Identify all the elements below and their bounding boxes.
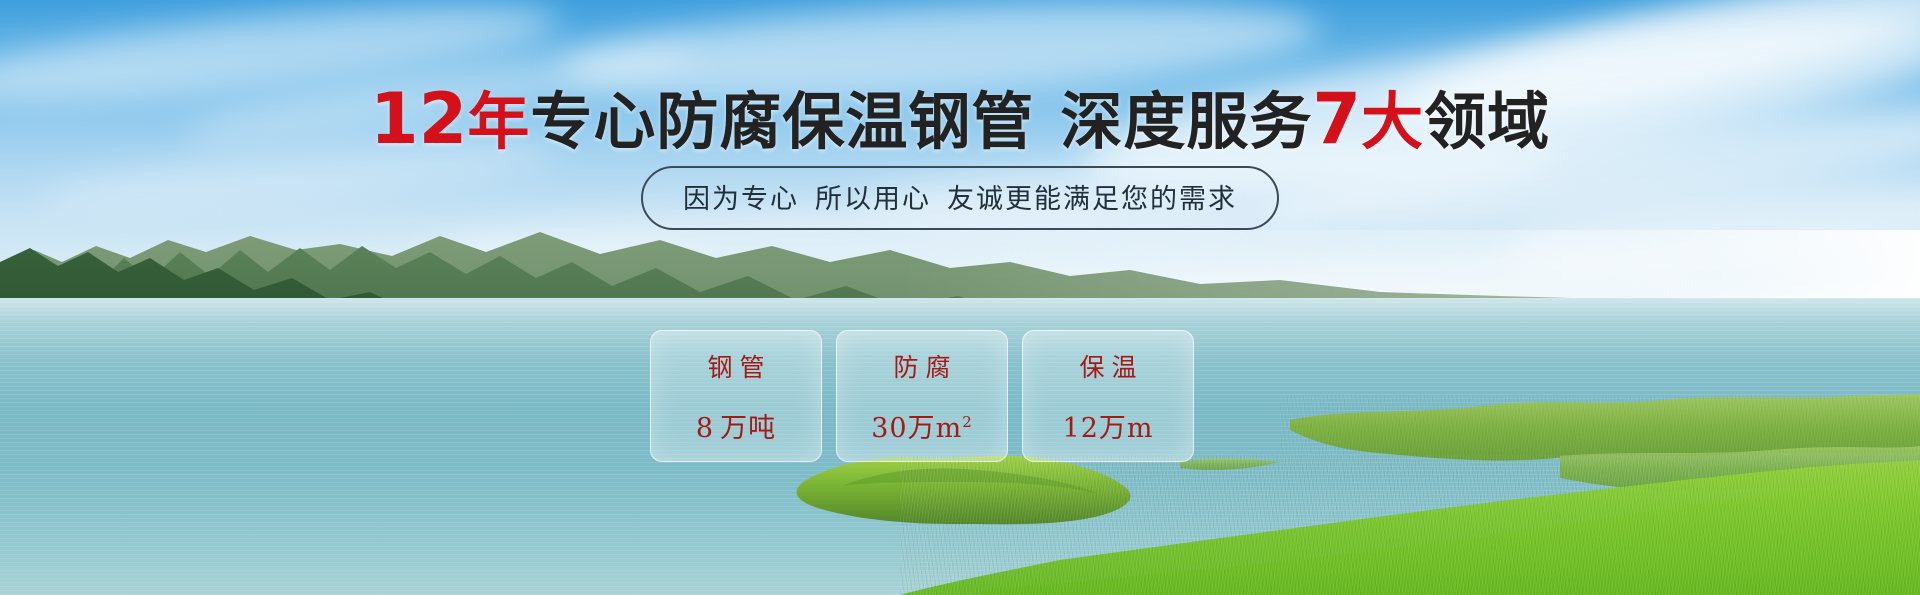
stat-card-group: 钢管 8万吨 防腐 30万m2 保温 12万m [650,330,1194,462]
subtitle-part-3: 友诚更能满足您的需求 [947,184,1237,215]
headline-fields-word: 领域 [1424,85,1550,158]
subtitle-part-1: 因为专心 [683,184,799,215]
banner-content: 12年专心防腐保温钢管深度服务7大领域 因为专心所以用心友诚更能满足您的需求 钢… [0,0,1920,595]
stat-number: 12 [1063,413,1099,444]
subtitle-pill: 因为专心所以用心友诚更能满足您的需求 [641,166,1279,230]
stat-card-anticorrosion: 防腐 30万m2 [836,330,1008,462]
stat-unit: 万m [1099,413,1154,444]
headline-service-phrase: 深度服务 [1060,85,1312,158]
stat-card-value: 30万m2 [871,406,973,445]
headline-years-number: 12 [370,78,467,160]
hero-banner: 12年专心防腐保温钢管深度服务7大领域 因为专心所以用心友诚更能满足您的需求 钢… [0,0,1920,595]
headline-years-unit: 年 [467,85,530,158]
stat-card-value: 8万吨 [696,406,776,445]
stat-unit: 万吨 [720,413,776,444]
headline: 12年专心防腐保温钢管深度服务7大领域 [0,84,1920,154]
stat-superscript: 2 [962,413,973,431]
stat-number: 8 [696,413,714,444]
stat-number: 30 [871,413,907,444]
stat-card-insulation: 保温 12万m [1022,330,1194,462]
subtitle-part-2: 所以用心 [815,184,931,215]
headline-fields-unit: 大 [1361,85,1424,158]
subtitle-container: 因为专心所以用心友诚更能满足您的需求 [0,166,1920,230]
stat-card-steel-pipe: 钢管 8万吨 [650,330,822,462]
stat-card-title: 防腐 [886,348,957,384]
headline-fields-number: 7 [1312,78,1361,160]
stat-unit: 万m [908,413,963,444]
stat-card-value: 12万m [1063,406,1154,445]
stat-card-title: 钢管 [700,348,771,384]
headline-main-phrase: 专心防腐保温钢管 [530,85,1034,158]
stat-card-title: 保温 [1072,348,1143,384]
